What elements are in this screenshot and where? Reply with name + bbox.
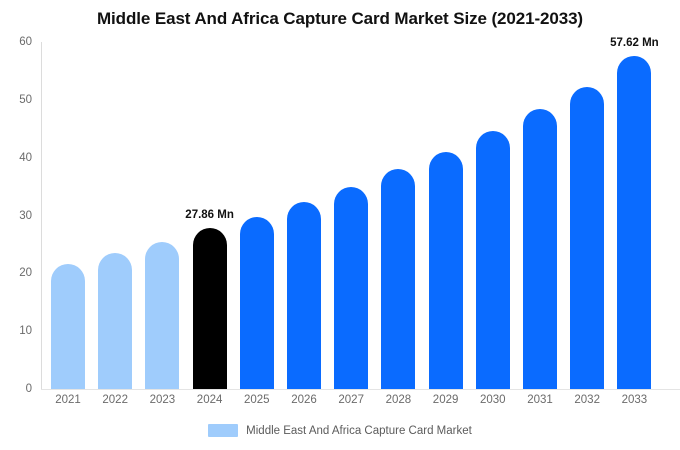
- bar-slot[interactable]: [470, 42, 516, 389]
- x-axis-tick-2029: 2029: [423, 394, 469, 406]
- bar-slot[interactable]: [564, 42, 610, 389]
- bar-2033[interactable]: 57.62 Mn: [617, 56, 651, 389]
- y-axis-tick-label: 40: [0, 152, 32, 164]
- legend-label: Middle East And Africa Capture Card Mark…: [246, 425, 472, 437]
- plot-area: 27.86 Mn57.62 Mn 0102030405060 202120222…: [41, 42, 680, 389]
- bar-2024[interactable]: 27.86 Mn: [193, 228, 227, 389]
- x-axis-tick-2027: 2027: [328, 394, 374, 406]
- bar-2025[interactable]: [240, 217, 274, 389]
- x-axis-tick-2024: 2024: [187, 394, 233, 406]
- x-axis-tick-2028: 2028: [375, 394, 421, 406]
- bar-series: 27.86 Mn57.62 Mn: [41, 42, 680, 389]
- bar-2022[interactable]: [98, 253, 132, 389]
- bar-slot[interactable]: [92, 42, 138, 389]
- bar-2028[interactable]: [381, 169, 415, 389]
- y-axis-tick-label: 10: [0, 325, 32, 337]
- bar-2027[interactable]: [334, 187, 368, 389]
- bar-value-label: 57.62 Mn: [610, 37, 659, 49]
- bar-slot[interactable]: 27.86 Mn: [187, 42, 233, 389]
- bar-slot[interactable]: [517, 42, 563, 389]
- chart-container: Middle East And Africa Capture Card Mark…: [0, 0, 680, 450]
- bar-slot[interactable]: [281, 42, 327, 389]
- x-axis-tick-2032: 2032: [564, 394, 610, 406]
- legend-swatch-icon: [208, 424, 238, 437]
- x-axis-tick-2030: 2030: [470, 394, 516, 406]
- x-axis-tick-2023: 2023: [139, 394, 185, 406]
- y-axis-tick-label: 20: [0, 267, 32, 279]
- bar-slot[interactable]: [139, 42, 185, 389]
- bar-2021[interactable]: [51, 264, 85, 389]
- bar-slot[interactable]: [375, 42, 421, 389]
- bar-slot[interactable]: [45, 42, 91, 389]
- x-axis-tick-2033: 2033: [611, 394, 657, 406]
- bar-2031[interactable]: [523, 109, 557, 389]
- x-axis-tick-2025: 2025: [234, 394, 280, 406]
- x-axis-tick-2021: 2021: [45, 394, 91, 406]
- y-axis-tick-label: 30: [0, 210, 32, 222]
- bar-2029[interactable]: [429, 152, 463, 389]
- x-axis-tick-2026: 2026: [281, 394, 327, 406]
- x-axis-tick-2031: 2031: [517, 394, 563, 406]
- y-axis-tick-label: 60: [0, 36, 32, 48]
- bar-2023[interactable]: [145, 242, 179, 389]
- chart-legend: Middle East And Africa Capture Card Mark…: [0, 424, 680, 437]
- bar-slot[interactable]: [234, 42, 280, 389]
- bar-2026[interactable]: [287, 202, 321, 389]
- y-axis-tick-label: 0: [0, 383, 32, 395]
- bar-2030[interactable]: [476, 131, 510, 390]
- bar-value-label: 27.86 Mn: [185, 209, 234, 221]
- x-axis-tick-2022: 2022: [92, 394, 138, 406]
- bar-slot[interactable]: [328, 42, 374, 389]
- x-axis-baseline: [41, 389, 680, 390]
- bar-slot[interactable]: 57.62 Mn: [611, 42, 657, 389]
- bar-2032[interactable]: [570, 87, 604, 389]
- bar-slot[interactable]: [423, 42, 469, 389]
- y-axis-tick-label: 50: [0, 94, 32, 106]
- chart-title: Middle East And Africa Capture Card Mark…: [0, 9, 680, 29]
